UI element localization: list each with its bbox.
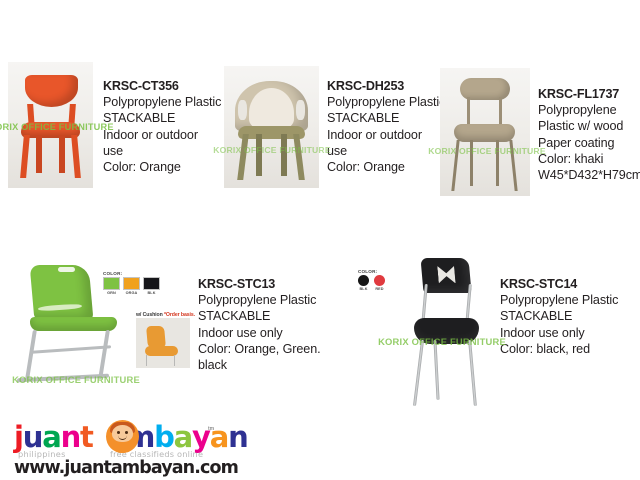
spec-line: Polypropylene Plastic: [327, 94, 445, 110]
spec-line: Color: Orange: [327, 159, 445, 175]
swatch-label: GRN: [103, 291, 120, 295]
logo-letter-n2: n: [228, 422, 247, 452]
chair-leg-front-left: [237, 134, 249, 180]
swatch-label: ORGA: [123, 291, 140, 295]
spec-line: use: [327, 143, 445, 159]
chair-leg-rear-right: [281, 134, 287, 175]
footer-branding: juantambayan tm philippines free classif…: [12, 418, 252, 474]
logo-letter-t: t: [80, 422, 93, 452]
website-url[interactable]: www.juantambayan.com: [14, 458, 238, 478]
logo-letter-b: b: [154, 422, 174, 452]
spec-line: Polypropylene Plastic: [500, 292, 618, 308]
swatch-chip: [123, 277, 140, 290]
cushion-option-photo[interactable]: [136, 318, 190, 368]
chair-illustration-dh253: [224, 66, 319, 188]
spec-line: Color: black, red: [500, 341, 618, 357]
swatch-cell-blk[interactable]: BLK: [358, 275, 369, 291]
spec-line: STACKABLE: [327, 110, 445, 126]
swatch-label: BLK: [143, 291, 160, 295]
chair-back-handle-slot: [58, 267, 75, 272]
chair-sled-crossbar: [32, 345, 111, 354]
swatch-chip: [374, 275, 385, 286]
swatch-cell-red[interactable]: RED: [374, 275, 385, 291]
cushion-chair-leg-left: [146, 355, 148, 366]
swatch-row: BLK RED: [358, 275, 385, 291]
spec-line: Indoor or outdoor: [327, 127, 445, 143]
color-swatches-stc13: COLOR: GRN ORGA BLK: [103, 271, 160, 295]
chair-leg-front-right: [71, 135, 81, 178]
product-photo-krsc-fl1737[interactable]: [440, 68, 530, 196]
swatch-chip: [103, 277, 120, 290]
product-photo-krsc-dh253[interactable]: [224, 66, 319, 188]
cushion-backrest: [146, 326, 166, 348]
logo-letter-j: j: [14, 422, 23, 452]
product-sku: KRSC-STC13: [198, 276, 321, 292]
swatch-cell-blk[interactable]: BLK: [143, 277, 160, 295]
chair-leg-rear-left: [470, 140, 473, 186]
chair-leg-front-left: [20, 135, 30, 178]
mascot-eye-left: [117, 431, 120, 434]
catalog-page: KORIX OFFICE FURNITURE KRSC-CT356 Polypr…: [0, 0, 640, 480]
chair-leg-rear: [433, 340, 439, 400]
swatch-chip: [358, 275, 369, 286]
product-sku: KRSC-DH253: [327, 78, 445, 94]
spec-line: W45*D432*H79cm: [538, 167, 640, 183]
chair-seat: [30, 317, 117, 331]
chair-illustration-stc14: [395, 252, 500, 410]
trademark-mark: tm: [208, 426, 214, 432]
logo-letter-a: a: [42, 422, 60, 452]
chair-backrest: [25, 75, 78, 108]
product-sku: KRSC-FL1737: [538, 86, 640, 102]
product-specs-krsc-fl1737: KRSC-FL1737 Polypropylene Plastic w/ woo…: [538, 86, 640, 183]
logo-letter-n: n: [61, 422, 80, 452]
product-specs-krsc-stc14: KRSC-STC14 Polypropylene Plastic STACKAB…: [500, 276, 618, 357]
spec-line: Indoor or outdoor: [103, 127, 221, 143]
swatch-chip: [143, 277, 160, 290]
chair-leg-rear-right: [496, 140, 499, 186]
chair-sled-leg-right: [98, 330, 110, 379]
chair-leg-front-right: [509, 140, 517, 191]
spec-line: STACKABLE: [500, 308, 618, 324]
logo-letter-a3: a: [174, 422, 192, 452]
product-photo-krsc-ct356[interactable]: [8, 62, 93, 188]
chair-leg-front-right: [468, 340, 477, 406]
color-swatches-stc14: COLOR: BLK RED: [358, 269, 385, 291]
spec-line: Indoor use only: [198, 325, 321, 341]
spec-line: Color: khaki: [538, 151, 640, 167]
chair-illustration-ct356: [8, 62, 93, 188]
swatch-row: GRN ORGA BLK: [103, 277, 160, 295]
mascot-icon: [106, 420, 139, 453]
swatch-cell-grn[interactable]: GRN: [103, 277, 120, 295]
spec-line: Color: Orange: [103, 159, 221, 175]
chair-illustration-fl1737: [440, 68, 530, 196]
chair-armrest-hole-right: [296, 100, 305, 120]
spec-line: Polypropylene Plastic: [103, 94, 221, 110]
chair-leg-front-right: [293, 134, 305, 180]
spec-line: black: [198, 357, 321, 373]
spec-line: Plastic w/ wood: [538, 118, 640, 134]
product-specs-krsc-ct356: KRSC-CT356 Polypropylene Plastic STACKAB…: [103, 78, 221, 175]
swatch-label: BLK: [358, 287, 369, 291]
cushion-chair-leg-right: [174, 355, 176, 366]
swatch-title: COLOR:: [103, 271, 160, 276]
chair-backrest: [30, 265, 94, 320]
product-specs-krsc-dh253: KRSC-DH253 Polypropylene Plastic STACKAB…: [327, 78, 445, 175]
spec-line: Indoor use only: [500, 325, 618, 341]
spec-line: Paper coating: [538, 135, 640, 151]
swatch-cell-orga[interactable]: ORGA: [123, 277, 140, 295]
swatch-label: RED: [374, 287, 385, 291]
spec-line: Color: Orange, Green.: [198, 341, 321, 357]
chair-leg-rear-left: [256, 134, 262, 175]
spec-line: Polypropylene: [538, 102, 640, 118]
chair-sled-leg-left: [25, 330, 37, 379]
chair-seat: [454, 124, 515, 142]
logo-letter-u: u: [23, 422, 42, 452]
chair-leg-rear-right: [59, 135, 65, 173]
chair-leg-front-left: [413, 340, 424, 406]
spec-line: use: [103, 143, 221, 159]
swatch-title: COLOR:: [358, 269, 385, 274]
chair-sled-base-rail: [17, 374, 109, 383]
mascot-eye-right: [125, 431, 128, 434]
product-specs-krsc-stc13: KRSC-STC13 Polypropylene Plastic STACKAB…: [198, 276, 321, 373]
spec-line: STACKABLE: [103, 110, 221, 126]
chair-armrest-hole-left: [238, 100, 247, 120]
chair-leg-front-left: [451, 140, 459, 191]
product-sku: KRSC-STC14: [500, 276, 618, 292]
spec-line: STACKABLE: [198, 308, 321, 324]
product-sku: KRSC-CT356: [103, 78, 221, 94]
product-photo-krsc-stc14[interactable]: [395, 252, 500, 410]
chair-leg-rear-left: [36, 135, 42, 173]
spec-line: Polypropylene Plastic: [198, 292, 321, 308]
